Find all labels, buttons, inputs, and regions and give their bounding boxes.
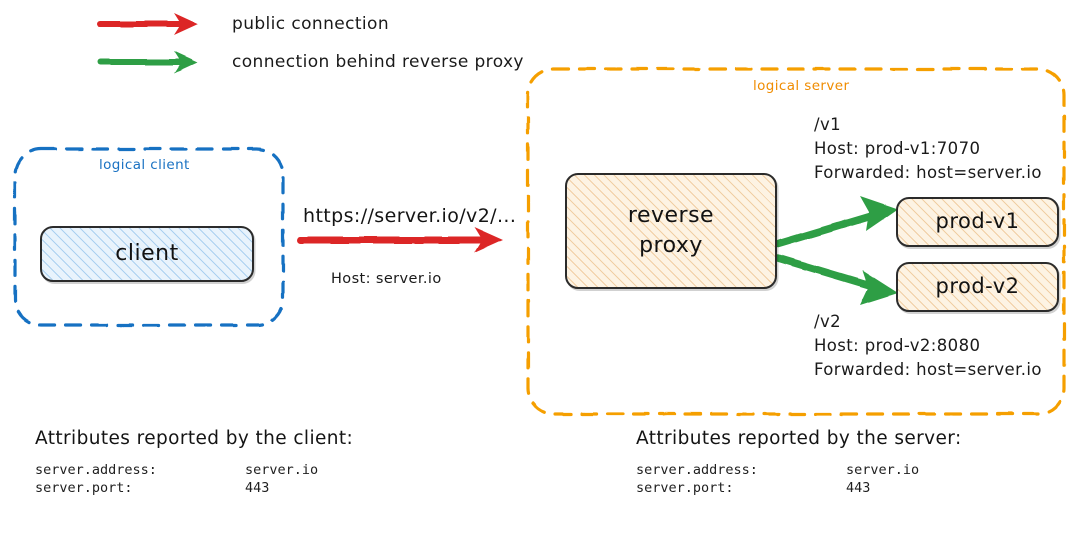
- server-attributes-table: server.address: server.io server.port: 4…: [636, 462, 919, 498]
- public-connection-arrow: [300, 227, 503, 253]
- reverse-proxy-node[interactable]: reverse proxy: [565, 173, 777, 289]
- client-attributes-title: Attributes reported by the client:: [35, 428, 353, 449]
- client-attributes-block: Attributes reported by the client: serve…: [35, 428, 353, 498]
- prod-v2-node-label: prod-v2: [936, 275, 1020, 299]
- route-v1-forwarded: Forwarded: host=server.io: [814, 161, 1042, 185]
- prod-v2-node[interactable]: prod-v2: [896, 262, 1059, 312]
- legend-green-arrow-icon: [100, 51, 198, 73]
- server-attributes-block: Attributes reported by the server: serve…: [636, 428, 962, 498]
- public-request-host-header: Host: server.io: [331, 271, 442, 287]
- route-v2-forwarded: Forwarded: host=server.io: [814, 358, 1042, 382]
- reverse-proxy-line-1: reverse: [628, 203, 714, 228]
- client-attr-key-server-address: server.address:: [35, 462, 245, 480]
- client-node[interactable]: client: [40, 226, 254, 282]
- server-attr-key-server-port: server.port:: [636, 480, 846, 498]
- server-attr-value-server-address: server.io: [846, 462, 919, 480]
- legend-label-reverse-proxy-connection: connection behind reverse proxy: [232, 52, 524, 72]
- route-v2-host: Host: prod-v2:8080: [814, 334, 1042, 358]
- reverse-proxy-line-2: proxy: [639, 233, 703, 258]
- reverse-proxy-node-label: reverse proxy: [628, 201, 714, 260]
- server-attr-key-server-address: server.address:: [636, 462, 846, 480]
- server-attributes-title: Attributes reported by the server:: [636, 428, 962, 449]
- prod-v1-node-label: prod-v1: [936, 210, 1020, 234]
- server-attr-value-server-port: 443: [846, 480, 919, 498]
- route-v2-path: /v2: [814, 310, 1042, 334]
- table-row: server.port: 443: [636, 480, 919, 498]
- client-attr-key-server-port: server.port:: [35, 480, 245, 498]
- logical-client-label: logical client: [99, 157, 190, 173]
- table-row: server.address: server.io: [636, 462, 919, 480]
- legend-red-arrow-icon: [100, 13, 198, 35]
- proxy-to-prodv1-arrow: [778, 196, 898, 244]
- client-attributes-table: server.address: server.io server.port: 4…: [35, 462, 318, 498]
- proxy-to-prodv2-arrow: [778, 258, 898, 305]
- route-v1-host: Host: prod-v1:7070: [814, 137, 1042, 161]
- client-node-label: client: [115, 242, 178, 267]
- route-v2-annotation: /v2 Host: prod-v2:8080 Forwarded: host=s…: [814, 310, 1042, 382]
- client-attr-value-server-address: server.io: [245, 462, 318, 480]
- table-row: server.address: server.io: [35, 462, 318, 480]
- prod-v1-node[interactable]: prod-v1: [896, 197, 1059, 247]
- client-attr-value-server-port: 443: [245, 480, 318, 498]
- route-v1-annotation: /v1 Host: prod-v1:7070 Forwarded: host=s…: [814, 113, 1042, 185]
- route-v1-path: /v1: [814, 113, 1042, 137]
- logical-server-label: logical server: [753, 78, 849, 94]
- public-request-url: https://server.io/v2/...: [303, 205, 516, 227]
- legend-label-public-connection: public connection: [232, 14, 389, 34]
- table-row: server.port: 443: [35, 480, 318, 498]
